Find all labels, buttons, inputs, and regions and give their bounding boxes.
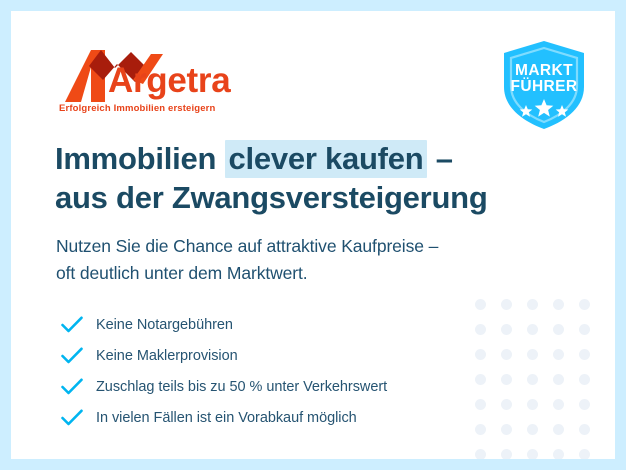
list-item-label: Keine Notargebühren bbox=[96, 317, 233, 333]
decorative-dot bbox=[579, 349, 590, 360]
decorative-dot bbox=[527, 449, 538, 459]
page-frame: Argetra Erfolgreich Immobilien ersteiger… bbox=[0, 0, 626, 470]
logo-wordmark: Argetra bbox=[108, 63, 230, 98]
decorative-dot bbox=[579, 399, 590, 410]
decorative-dot bbox=[553, 399, 564, 410]
check-icon bbox=[61, 346, 87, 366]
list-item-label: Keine Maklerprovision bbox=[96, 348, 238, 364]
decorative-dot bbox=[553, 449, 564, 459]
page-subtitle: Nutzen Sie die Chance auf attraktive Kau… bbox=[56, 233, 576, 287]
list-item-label: Zuschlag teils bis zu 50 % unter Verkehr… bbox=[96, 379, 387, 395]
benefit-list: Keine Notargebühren Keine Maklerprovisio… bbox=[61, 309, 531, 433]
logo-tagline: Erfolgreich Immobilien ersteigern bbox=[59, 103, 215, 114]
decorative-dot bbox=[553, 324, 564, 335]
argetra-logo[interactable]: Argetra Erfolgreich Immobilien ersteiger… bbox=[55, 46, 245, 118]
decorative-dot bbox=[553, 299, 564, 310]
list-item: Keine Maklerprovision bbox=[61, 340, 531, 371]
subtitle-line-2: oft deutlich unter dem Marktwert. bbox=[56, 260, 576, 287]
check-icon bbox=[61, 377, 87, 397]
headline-line-2: aus der Zwangsversteigerung bbox=[55, 178, 575, 217]
decorative-dot bbox=[579, 449, 590, 459]
list-item-label: In vielen Fällen ist ein Vorabkauf mögli… bbox=[96, 410, 357, 426]
decorative-dot bbox=[579, 324, 590, 335]
page-title: Immobilien clever kaufen – aus der Zwang… bbox=[55, 139, 575, 218]
headline-line-1: Immobilien clever kaufen – bbox=[55, 139, 575, 178]
decorative-dot bbox=[475, 449, 486, 459]
shield-icon bbox=[498, 39, 590, 131]
subtitle-line-1: Nutzen Sie die Chance auf attraktive Kau… bbox=[56, 233, 576, 260]
decorative-dot bbox=[579, 374, 590, 385]
decorative-dot bbox=[553, 349, 564, 360]
decorative-dot bbox=[553, 374, 564, 385]
market-leader-badge: MARKT FÜHRER bbox=[498, 39, 590, 131]
headline-suffix: – bbox=[427, 141, 452, 176]
decorative-dot bbox=[553, 424, 564, 435]
decorative-dot bbox=[501, 449, 512, 459]
headline-highlight: clever kaufen bbox=[225, 140, 428, 178]
decorative-dot bbox=[579, 424, 590, 435]
list-item: Keine Notargebühren bbox=[61, 309, 531, 340]
list-item: In vielen Fällen ist ein Vorabkauf mögli… bbox=[61, 402, 531, 433]
list-item: Zuschlag teils bis zu 50 % unter Verkehr… bbox=[61, 371, 531, 402]
check-icon bbox=[61, 408, 87, 428]
promo-card: Argetra Erfolgreich Immobilien ersteiger… bbox=[11, 11, 615, 459]
decorative-dot bbox=[579, 299, 590, 310]
check-icon bbox=[61, 315, 87, 335]
headline-prefix: Immobilien bbox=[55, 141, 225, 176]
